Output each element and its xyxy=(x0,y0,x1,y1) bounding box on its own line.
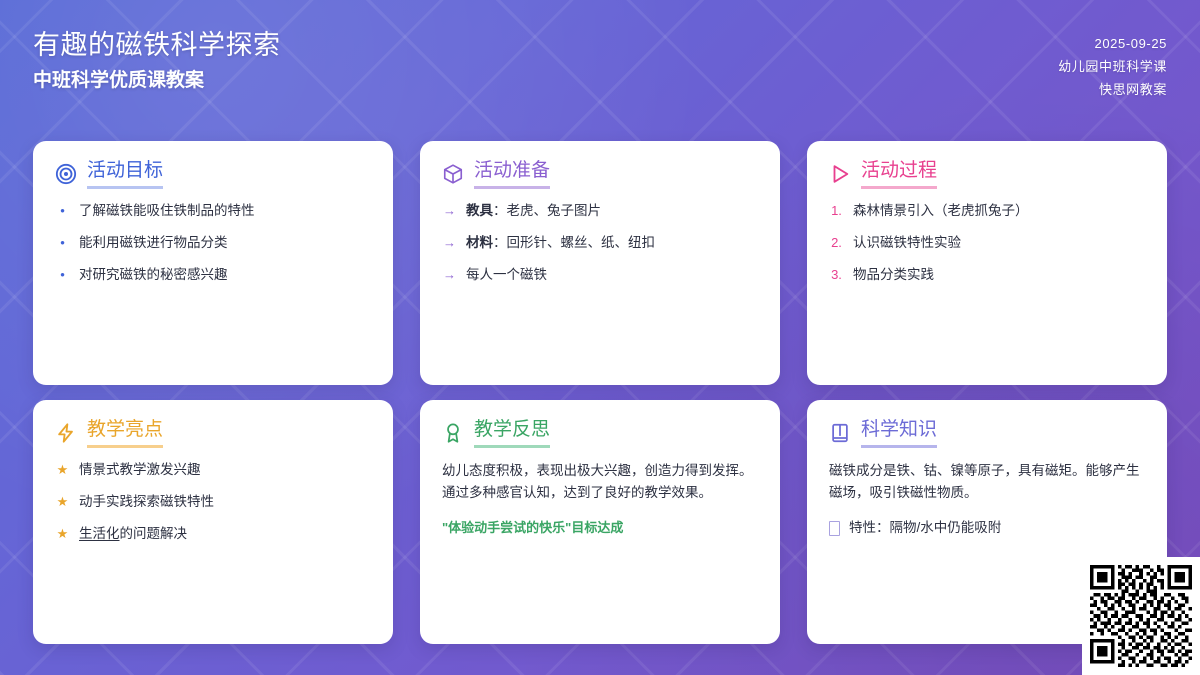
card-objectives: 活动目标 • 了解磁铁能吸住铁制品的特性 • 能利用磁铁进行物品分类 • 对研究… xyxy=(33,141,393,385)
qr-code-image xyxy=(1090,565,1192,667)
reflection-paragraph: 幼儿态度积极，表现出极大兴趣，创造力得到发挥。通过多种感官认知，达到了良好的教学… xyxy=(442,460,758,504)
card-header: 活动过程 xyxy=(829,159,1145,189)
bullet-marker: ★ xyxy=(55,492,70,511)
list-item: ★ 情景式教学激发兴趣 xyxy=(55,460,371,479)
card-header: 活动准备 xyxy=(442,159,758,189)
card-title: 教学亮点 xyxy=(87,418,163,448)
box-icon xyxy=(442,163,464,185)
list-item: ★ 动手实践探索磁铁特性 xyxy=(55,492,371,511)
card-title: 教学反思 xyxy=(474,418,550,448)
bullet-text: 物品分类实践 xyxy=(853,265,1145,284)
bullet-marker: ★ xyxy=(55,460,70,479)
meta-source: 快思网教案 xyxy=(1058,78,1167,101)
bullet-text: 生活化的问题解决 xyxy=(79,524,371,543)
bullet-marker: 2. xyxy=(829,233,844,252)
meta-date: 2025-09-25 xyxy=(1058,32,1167,55)
lightning-icon xyxy=(55,422,77,444)
page-subtitle: 中班科学优质课教案 xyxy=(33,68,281,94)
award-icon xyxy=(442,422,464,444)
science-note: 特性：隔物/水中仍能吸附 xyxy=(829,518,1145,538)
qr-code[interactable] xyxy=(1082,557,1200,675)
bullet-text: 每人一个磁铁 xyxy=(466,265,758,284)
card-body: • 了解磁铁能吸住铁制品的特性 • 能利用磁铁进行物品分类 • 对研究磁铁的秘密… xyxy=(55,201,371,284)
bullet-marker: ★ xyxy=(55,524,70,543)
target-icon xyxy=(55,163,77,185)
card-body: 磁铁成分是铁、钴、镍等原子，具有磁矩。能够产生磁场，吸引铁磁性物质。 特性：隔物… xyxy=(829,460,1145,538)
list-item: • 能利用磁铁进行物品分类 xyxy=(55,233,371,252)
card-title: 活动过程 xyxy=(861,159,937,189)
bullet-label: 教具 xyxy=(466,203,493,218)
bullet-text: 动手实践探索磁铁特性 xyxy=(79,492,371,511)
bullet-text: 能利用磁铁进行物品分类 xyxy=(79,233,371,252)
title-block: 有趣的磁铁科学探索 中班科学优质课教案 xyxy=(33,28,281,94)
slide-root: 有趣的磁铁科学探索 中班科学优质课教案 2025-09-25 幼儿园中班科学课 … xyxy=(0,0,1200,675)
meta-course: 幼儿园中班科学课 xyxy=(1058,55,1167,78)
card-body: → 教具：老虎、兔子图片 → 材料：回形针、螺丝、纸、纽扣 → 每人一个磁铁 xyxy=(442,201,758,284)
list-item: • 对研究磁铁的秘密感兴趣 xyxy=(55,265,371,284)
play-icon xyxy=(829,163,851,185)
card-header: 教学亮点 xyxy=(55,418,371,448)
bullet-marker: 1. xyxy=(829,201,844,220)
bullet-text: 了解磁铁能吸住铁制品的特性 xyxy=(79,201,371,220)
card-title: 科学知识 xyxy=(861,418,937,448)
card-title: 活动准备 xyxy=(474,159,550,189)
card-preparation: 活动准备 → 教具：老虎、兔子图片 → 材料：回形针、螺丝、纸、纽扣 → 每人一… xyxy=(420,141,780,385)
bullet-underlined: 生活化 xyxy=(79,526,120,541)
bullet-marker: • xyxy=(55,265,70,284)
list-item: 1. 森林情景引入（老虎抓兔子） xyxy=(829,201,1145,220)
bullet-marker: → xyxy=(442,201,457,220)
bullet-marker: → xyxy=(442,233,457,252)
card-grid: 活动目标 • 了解磁铁能吸住铁制品的特性 • 能利用磁铁进行物品分类 • 对研究… xyxy=(33,141,1167,644)
list-item: 3. 物品分类实践 xyxy=(829,265,1145,284)
missing-glyph-icon xyxy=(829,521,840,536)
bullet-value: ：回形针、螺丝、纸、纽扣 xyxy=(493,235,655,250)
bullet-text: 教具：老虎、兔子图片 xyxy=(466,201,758,220)
card-body: 幼儿态度积极，表现出极大兴趣，创造力得到发挥。通过多种感官认知，达到了良好的教学… xyxy=(442,460,758,538)
list-item: → 教具：老虎、兔子图片 xyxy=(442,201,758,220)
bullet-value: 的问题解决 xyxy=(120,526,188,541)
card-highlights: 教学亮点 ★ 情景式教学激发兴趣 ★ 动手实践探索磁铁特性 ★ 生活化的问题解决 xyxy=(33,400,393,644)
bullet-text: 森林情景引入（老虎抓兔子） xyxy=(853,201,1145,220)
bullet-value: ：老虎、兔子图片 xyxy=(493,203,601,218)
list-item: → 材料：回形针、螺丝、纸、纽扣 xyxy=(442,233,758,252)
card-body: ★ 情景式教学激发兴趣 ★ 动手实践探索磁铁特性 ★ 生活化的问题解决 xyxy=(55,460,371,543)
bullet-text: 情景式教学激发兴趣 xyxy=(79,460,371,479)
science-note-text: 特性：隔物/水中仍能吸附 xyxy=(849,518,1001,538)
card-title: 活动目标 xyxy=(87,159,163,189)
list-item: → 每人一个磁铁 xyxy=(442,265,758,284)
slide-header: 有趣的磁铁科学探索 中班科学优质课教案 2025-09-25 幼儿园中班科学课 … xyxy=(0,0,1200,128)
header-meta: 2025-09-25 幼儿园中班科学课 快思网教案 xyxy=(1058,32,1167,101)
bullet-text: 对研究磁铁的秘密感兴趣 xyxy=(79,265,371,284)
card-process: 活动过程 1. 森林情景引入（老虎抓兔子） 2. 认识磁铁特性实验 3. 物品分… xyxy=(807,141,1167,385)
bullet-marker: → xyxy=(442,265,457,284)
bullet-marker: • xyxy=(55,201,70,220)
bullet-text: 认识磁铁特性实验 xyxy=(853,233,1145,252)
card-header: 科学知识 xyxy=(829,418,1145,448)
card-header: 活动目标 xyxy=(55,159,371,189)
reflection-quote: "体验动手尝试的快乐"目标达成 xyxy=(442,518,758,538)
bullet-marker: • xyxy=(55,233,70,252)
list-item: 2. 认识磁铁特性实验 xyxy=(829,233,1145,252)
list-item: • 了解磁铁能吸住铁制品的特性 xyxy=(55,201,371,220)
bullet-text: 材料：回形针、螺丝、纸、纽扣 xyxy=(466,233,758,252)
card-header: 教学反思 xyxy=(442,418,758,448)
card-reflection: 教学反思 幼儿态度积极，表现出极大兴趣，创造力得到发挥。通过多种感官认知，达到了… xyxy=(420,400,780,644)
list-item: ★ 生活化的问题解决 xyxy=(55,524,371,543)
book-icon xyxy=(829,422,851,444)
bullet-label: 材料 xyxy=(466,235,493,250)
page-title: 有趣的磁铁科学探索 xyxy=(33,28,281,62)
science-paragraph: 磁铁成分是铁、钴、镍等原子，具有磁矩。能够产生磁场，吸引铁磁性物质。 xyxy=(829,460,1145,504)
card-body: 1. 森林情景引入（老虎抓兔子） 2. 认识磁铁特性实验 3. 物品分类实践 xyxy=(829,201,1145,284)
bullet-marker: 3. xyxy=(829,265,844,284)
